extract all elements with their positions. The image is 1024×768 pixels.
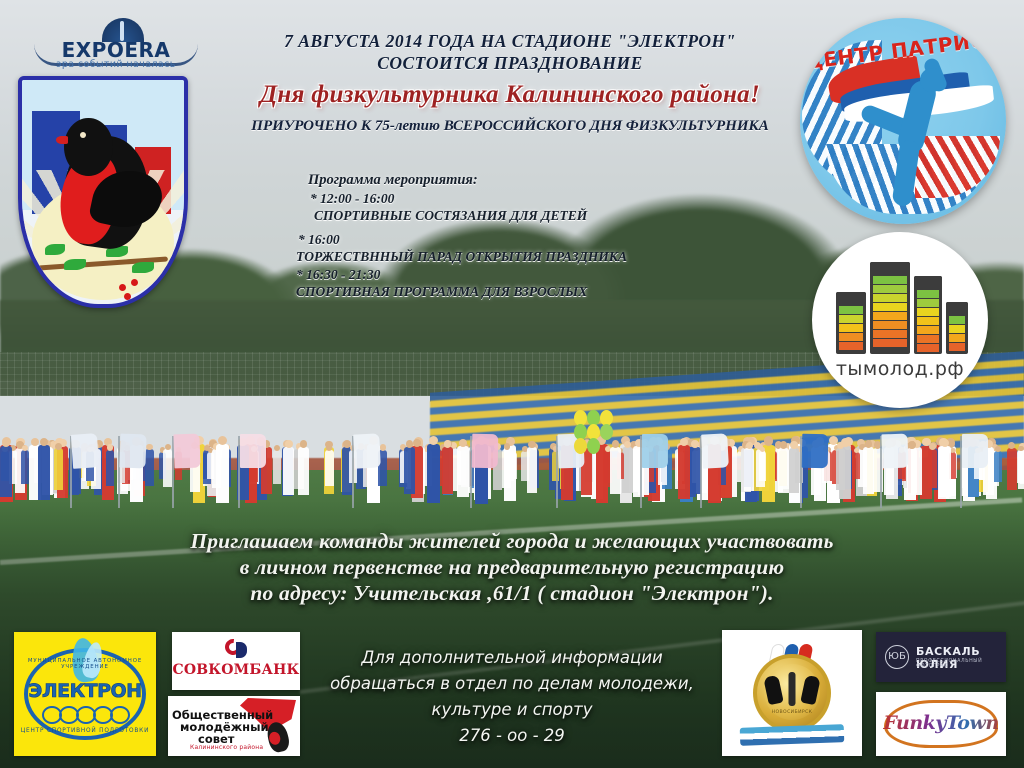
crowd-person (907, 448, 917, 493)
sovcombank-name: СОВКОМБАНК (172, 662, 300, 678)
sovcombank-logo[interactable]: СОВКОМБАНК (172, 632, 300, 690)
youth-council-logo[interactable]: Общественный молодёжный совет Калининско… (168, 696, 300, 756)
tymolod-tower-segment (839, 315, 863, 323)
crowd-person (928, 449, 937, 488)
balloon (600, 424, 613, 440)
nsk-torch-icon (789, 672, 796, 706)
crowd-person (273, 450, 281, 484)
tymolod-tower-segment (949, 334, 965, 342)
crowd-person (404, 447, 415, 494)
coa-rowan-berry (119, 284, 126, 291)
crowd-person-head (764, 436, 773, 445)
program-item-3-desc: СПОРТИВНАЯ ПРОГРАММА ДЛЯ ВЗРОСЛЫХ (296, 283, 696, 301)
poster-header: 7 АВГУСТА 2014 ГОДА НА СТАДИОНЕ "ЭЛЕКТРО… (200, 30, 820, 136)
tymolod-name: тымолод.рф (812, 358, 988, 380)
crowd-person (690, 447, 701, 494)
tymolod-tower-segment (839, 306, 863, 314)
header-subline: ПРИУРОЧЕНО К 75-летию ВСЕРОССИЙСКОГО ДНЯ… (200, 117, 820, 136)
expoera-logo[interactable]: EXPOERA эра событий началась (36, 18, 196, 70)
event-program: Программа мероприятия: * 12:00 - 16:00 С… (296, 172, 696, 301)
crowd-person (21, 450, 29, 484)
flag (962, 434, 988, 468)
invitation-line-3: по адресу: Учительская ,61/1 ( стадион "… (60, 580, 964, 606)
photographer-logo[interactable]: ЮБ БАСКАЛЬ ЮЛИЯ ПРОФЕССИОНАЛЬНЫЙ ФОТОГРА… (876, 632, 1006, 682)
crowd-person (145, 449, 154, 486)
balloon (574, 438, 587, 454)
flag (472, 434, 499, 468)
sovcombank-mark-icon (225, 639, 247, 659)
patriot-center-logo[interactable]: ЦЕНТР ПАТРИОТ (800, 18, 1006, 224)
flag (240, 434, 266, 468)
crowd-person (54, 448, 64, 489)
balloon (587, 438, 600, 454)
nsk-arc-text: НОВОСИБИРСК (722, 710, 862, 715)
tymolod-tower-segment (917, 299, 939, 307)
athletes-crowd (0, 412, 1024, 508)
crowd-person (789, 448, 799, 493)
tymolod-tower-segment (873, 321, 907, 329)
tymolod-tower-cap (914, 276, 942, 288)
crowd-person (0, 446, 11, 497)
kalininsky-coat-of-arms (18, 76, 188, 308)
program-item-1-desc: СПОРТИВНЫЕ СОСТЯЗАНИЯ ДЛЯ ДЕТЕЙ (296, 207, 696, 225)
crowd-person (853, 452, 860, 479)
header-line-2: СОСТОИТСЯ ПРАЗДНОВАНИЕ (200, 52, 820, 74)
flag (353, 433, 381, 468)
electron-word: ЭЛЕКТРОН (14, 680, 156, 702)
crowd-person (527, 447, 538, 493)
crowd-person-head (274, 445, 280, 451)
tymolod-tower (836, 292, 866, 354)
tymolod-tower-segment (917, 317, 939, 325)
crowd-person-head (55, 443, 62, 450)
crowd-person-head (908, 441, 916, 449)
crowd-person-head (746, 442, 753, 449)
tymolod-tower-segment (839, 333, 863, 341)
electron-logo[interactable]: МУНИЦИПАЛЬНОЕ АВТОНОМНОЕ УЧРЕЖДЕНИЕ ЭЛЕК… (14, 632, 156, 756)
crowd-person-head (854, 448, 859, 453)
crowd-person (759, 451, 767, 480)
program-title: Программа мероприятия: (296, 172, 696, 190)
crowd-person (325, 450, 334, 486)
expoera-tagline: эра событий началась (36, 59, 196, 70)
flag (119, 434, 146, 469)
contact-line-1: Для дополнительной информации (312, 645, 712, 671)
program-item-3-time: * 16:30 - 21:30 (296, 266, 696, 284)
crowd-person-head (146, 444, 152, 450)
tymolod-tower-segment (949, 325, 965, 333)
contact-line-2: обращаться в отдел по делам молодежи, (312, 671, 712, 697)
header-line-1: 7 АВГУСТА 2014 ГОДА НА СТАДИОНЕ "ЭЛЕКТРО… (200, 30, 820, 52)
crowd-person (38, 445, 50, 499)
invitation-line-2: в личном первенстве на предварительную р… (60, 554, 964, 580)
nsk-ribbon-icon (740, 724, 845, 746)
olympic-rings-icon (42, 706, 128, 724)
crowd-person (298, 447, 309, 496)
tymolod-tower-segment (949, 316, 965, 324)
coa-leaf (132, 262, 154, 273)
program-item-2-desc: ТОРЖЕСТВННЫЙ ПАРАД ОТКРЫТИЯ ПРАЗДНИКА (296, 248, 696, 266)
funkytown-name: FunkyTown (876, 712, 1006, 734)
crowd-person (1007, 448, 1017, 490)
crowd-person (216, 444, 229, 503)
flag (173, 434, 200, 469)
tymolod-tower (914, 276, 942, 354)
coa-bullfinch-head (64, 118, 113, 176)
program-item-1-time: * 12:00 - 16:00 (296, 190, 696, 208)
crowd-person (836, 448, 846, 490)
crowd-person-head (300, 440, 308, 448)
crowd-person-head (941, 439, 949, 447)
electron-arc-bottom: ЦЕНТР СПОРТИВНОЙ ПОДГОТОВКИ (14, 728, 156, 734)
crowd-person-head (413, 439, 421, 447)
tymolod-buildings-icon (836, 256, 966, 354)
crowd-person (502, 449, 511, 488)
balloon-cluster (574, 410, 618, 462)
contact-line-3: культуре и спорту (312, 697, 712, 723)
crowd-person-head (285, 440, 293, 448)
event-poster: EXPOERA эра событий началась (0, 0, 1024, 768)
tymolod-tower-segment (873, 285, 907, 293)
tymolod-tower-segment (873, 303, 907, 311)
crowd-person (427, 444, 440, 503)
invitation-block: Приглашаем команды жителей города и жела… (60, 528, 964, 606)
tymolod-tower-segment (839, 342, 863, 350)
coa-rowan-berry (124, 293, 131, 300)
contact-phone: 276 - оо - 29 (312, 723, 712, 749)
tymolod-tower-segment (949, 343, 965, 351)
program-item-2-time: * 16:00 (296, 231, 696, 249)
photographer-role: ПРОФЕССИОНАЛЬНЫЙ ФОТОГРАФ (916, 659, 1006, 669)
tymolod-tower-segment (873, 294, 907, 302)
crowd-person (106, 450, 115, 487)
contact-block: Для дополнительной информации обращаться… (312, 645, 712, 749)
crowd-person-head (528, 441, 536, 449)
poster-headline: Дня физкультурника Калининского района! (200, 80, 820, 110)
invitation-line-1: Приглашаем команды жителей города и жела… (60, 528, 964, 554)
crowd-person-head (790, 441, 798, 449)
tymolod-tower-segment (839, 324, 863, 332)
youth-council-line-4: Калининского района (190, 744, 300, 751)
crowd-person (457, 446, 469, 497)
flag (881, 434, 908, 469)
coa-bullfinch-eye (80, 132, 86, 138)
crowd-person-head (780, 441, 788, 449)
crowd-person-head (995, 446, 1001, 452)
flag (802, 434, 829, 468)
coa-rowan-berry (131, 279, 138, 286)
tymolod-tower (870, 262, 910, 354)
tymolod-tower-cap (946, 302, 968, 314)
flag (642, 434, 668, 468)
tymolod-tower-segment (917, 326, 939, 334)
coa-bullfinch-beak (56, 136, 68, 144)
flag (701, 433, 729, 468)
tymolod-logo[interactable]: тымолод.рф (812, 232, 988, 408)
crowd-person-head (107, 444, 113, 450)
coa-leaf (45, 244, 65, 255)
crowd-person-head (380, 444, 386, 450)
crowd-person (994, 451, 1002, 482)
tymolod-tower-cap (870, 262, 910, 274)
crowd-person (939, 446, 950, 497)
tymolod-tower-segment (917, 290, 939, 298)
photographer-monogram-icon: ЮБ (885, 645, 909, 669)
tymolod-tower-segment (917, 335, 939, 343)
flag (71, 433, 99, 469)
crowd-person (283, 447, 294, 496)
crowd-person (744, 448, 754, 491)
crowd-person (778, 448, 788, 493)
funkytown-logo[interactable]: FunkyTown (876, 692, 1006, 756)
tymolod-tower-segment (917, 344, 939, 352)
tymolod-tower-segment (873, 339, 907, 347)
tymolod-tower-segment (873, 330, 907, 338)
tymolod-tower-segment (917, 308, 939, 316)
crowd-person (678, 445, 690, 499)
crowd-person-head (504, 443, 511, 450)
crowd-person (1017, 450, 1024, 483)
electron-arc-top: МУНИЦИПАЛЬНОЕ АВТОНОМНОЕ УЧРЕЖДЕНИЕ (14, 658, 156, 670)
novosibirsk-sport-emblem[interactable]: НОВОСИБИРСК (722, 630, 862, 756)
crowd-person (863, 447, 874, 494)
tymolod-tower-cap (836, 292, 866, 304)
patriot-gymnast-head (920, 68, 944, 92)
crowd-person (442, 447, 453, 494)
tymolod-tower (946, 302, 968, 354)
tymolod-tower-segment (873, 276, 907, 284)
tymolod-tower-segment (873, 312, 907, 320)
